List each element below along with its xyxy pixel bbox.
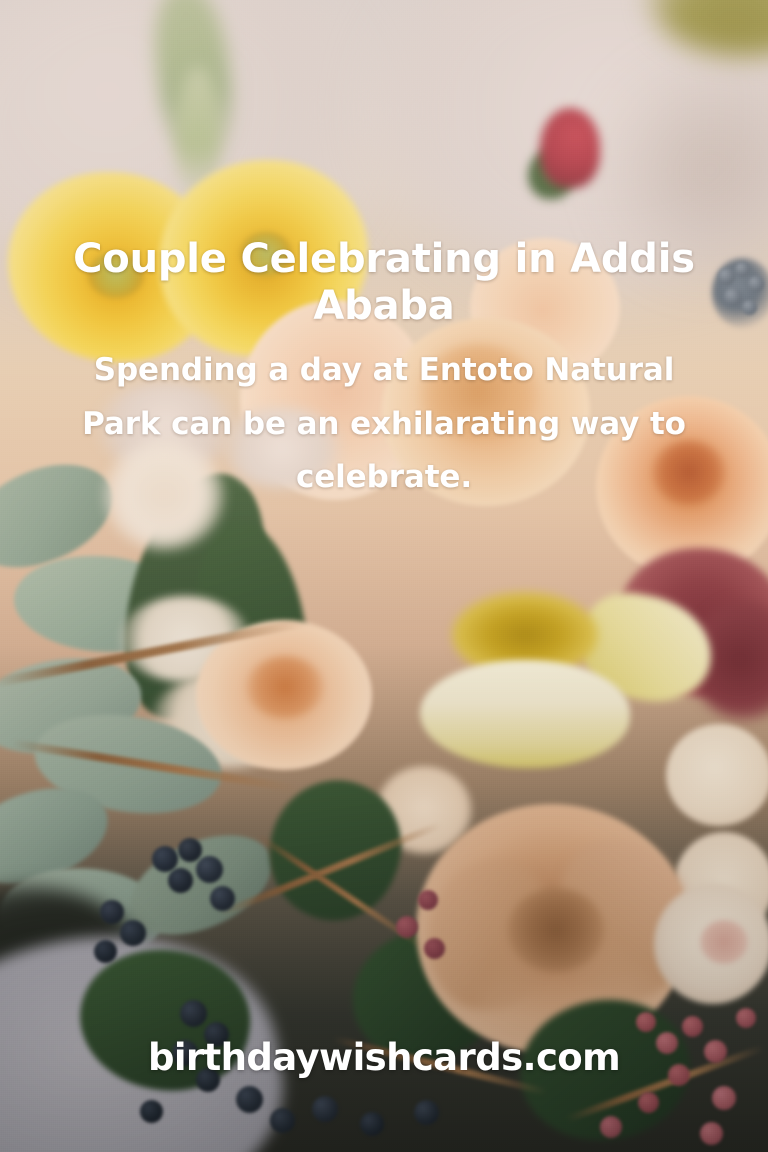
greeting-card: Couple Celebrating in Addis Ababa Spendi… [0,0,768,1152]
text-overlay: Couple Celebrating in Addis Ababa Spendi… [0,0,768,1152]
card-title: Couple Celebrating in Addis Ababa [28,236,740,330]
card-subtitle: Spending a day at Entoto Natural Park ca… [28,344,740,504]
site-url-footer: birthdaywishcards.com [0,1036,768,1079]
card-text-block: Couple Celebrating in Addis Ababa Spendi… [0,236,768,504]
